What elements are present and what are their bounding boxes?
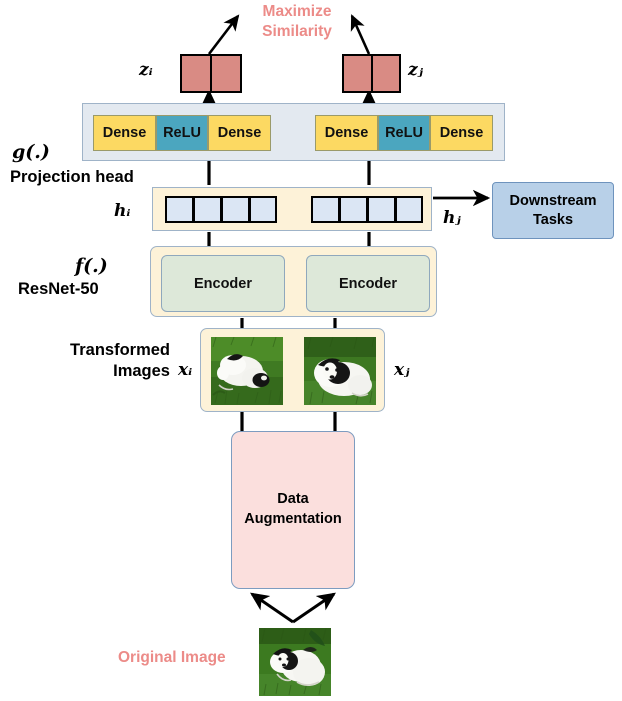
h-j-label: hⱼ <box>443 208 461 228</box>
representation-container <box>152 187 432 231</box>
projection-head-branch-right: Dense ReLU Dense <box>315 115 493 151</box>
h-vector-right <box>311 196 423 223</box>
arrow-source-to-aug-left <box>252 594 293 622</box>
encoder-box-left: Encoder <box>161 255 285 312</box>
z-vector-right <box>342 54 401 93</box>
transformed-images-label: Transformed Images <box>20 340 170 383</box>
z-i-label: zᵢ <box>139 60 153 80</box>
h-vector-left <box>165 196 277 223</box>
h-cell <box>165 196 193 223</box>
projection-head-branch-left: Dense ReLU Dense <box>93 115 271 151</box>
dense-block: Dense <box>208 115 271 151</box>
f-function-label: f(.) <box>75 255 108 277</box>
z-cell <box>212 56 240 91</box>
transformed-images-container <box>200 328 385 412</box>
z-cell <box>373 56 400 91</box>
dense-block: Dense <box>315 115 378 151</box>
dense-block: Dense <box>430 115 493 151</box>
encoder-box-right: Encoder <box>306 255 430 312</box>
h-cell <box>395 196 423 223</box>
arrow-source-to-aug-right <box>293 594 334 622</box>
resnet-backbone-label: ResNet-50 <box>18 280 99 299</box>
dense-block: Dense <box>93 115 156 151</box>
encoder-container: Encoder Encoder <box>150 246 437 317</box>
original-image-label: Original Image <box>118 649 226 667</box>
projection-head-label: Projection head <box>10 168 134 187</box>
h-cell <box>193 196 221 223</box>
data-augmentation-box: Data Augmentation <box>231 431 355 589</box>
transformed-image-left <box>211 337 283 405</box>
transformed-image-right <box>304 337 376 405</box>
h-i-label: hᵢ <box>114 201 130 221</box>
h-cell <box>339 196 367 223</box>
x-j-label: xⱼ <box>394 360 409 380</box>
h-cell <box>249 196 277 223</box>
relu-block: ReLU <box>378 115 430 151</box>
z-cell <box>344 56 373 91</box>
z-j-label: zⱼ <box>408 60 423 80</box>
original-image <box>259 628 331 696</box>
g-function-label: g(.) <box>12 141 50 163</box>
h-cell <box>221 196 249 223</box>
h-cell <box>311 196 339 223</box>
maximize-similarity-label: Maximize Similarity <box>237 2 357 42</box>
relu-block: ReLU <box>156 115 208 151</box>
diagram-canvas: Maximize Similarity zᵢ zⱼ Dense ReLU Den… <box>0 0 622 701</box>
h-cell <box>367 196 395 223</box>
z-vector-left <box>180 54 242 93</box>
z-cell <box>182 56 212 91</box>
x-i-label: xᵢ <box>178 360 192 380</box>
projection-head-container: Dense ReLU Dense Dense ReLU Dense <box>82 103 505 161</box>
downstream-tasks-box[interactable]: Downstream Tasks <box>492 182 614 239</box>
arrow-maximize-left <box>209 16 238 54</box>
